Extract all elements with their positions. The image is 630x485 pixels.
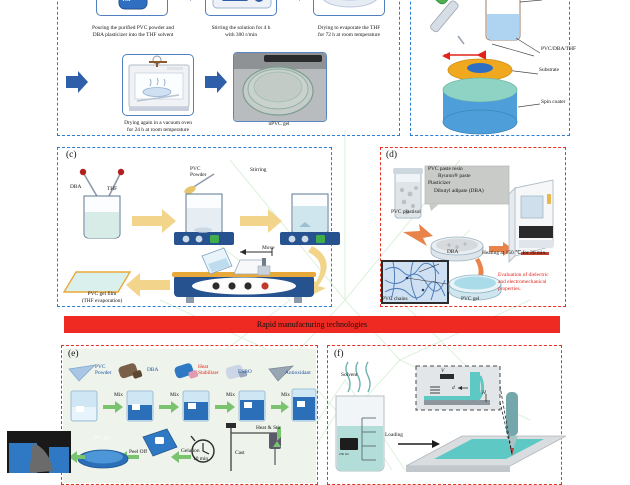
panel-a-step4-card bbox=[122, 54, 194, 116]
panel-e-mix-label-1: Mix bbox=[114, 392, 123, 398]
panel-e-label-heat-stir: Heat & Stir bbox=[256, 425, 281, 431]
petri-dish-solution-icon bbox=[314, 0, 386, 17]
panel-b-label-spin-coater: Spin coater bbox=[541, 99, 565, 105]
panel-f-label-volume: 250 ml bbox=[339, 452, 349, 456]
panel-a-arrow-1 bbox=[176, 0, 202, 4]
panel-f-label-inset-gap: d bbox=[452, 385, 455, 391]
panel-a-step1-caption: Pouring the purified PVC powder and DBA … bbox=[84, 25, 182, 39]
panel-c-diagram bbox=[62, 160, 328, 305]
panel-e-mix-label-3: Mix bbox=[226, 392, 235, 398]
mix-beaker-1 bbox=[71, 391, 97, 421]
panel-c-label-move: Move bbox=[262, 245, 275, 251]
panel-a-step2-caption-line2: with 300 r/min bbox=[196, 32, 286, 39]
panel-e-ingredient-3-label: ESBO bbox=[238, 369, 252, 375]
panel-a-product-photo bbox=[233, 52, 327, 122]
panel-d-label-evaluation-line3: properties. bbox=[498, 286, 549, 293]
panel-e-label-timer: 10 min bbox=[193, 456, 208, 462]
beaker-thf-icon bbox=[97, 0, 169, 17]
panel-d-tag: (d) bbox=[386, 150, 397, 160]
panel-b-label-substrate: Substrate bbox=[539, 67, 559, 73]
panel-e-ingredient-1-label: DBA bbox=[147, 367, 158, 373]
panel-c-label-product-line2: (THF evaporation) bbox=[62, 298, 142, 305]
panel-c-label-product: PVC gel film (THF evaporation) bbox=[62, 291, 142, 305]
panel-d-label-oven-caption: Heating at 150 ℃ for 30 min. bbox=[482, 250, 547, 256]
panel-e-label-peel-off: Peel Off bbox=[129, 449, 147, 455]
panel-a-arrow-2 bbox=[285, 0, 311, 4]
magnetic-stirrer-icon bbox=[206, 0, 278, 17]
panel-d-label-evaluation-line1: Evaluation of dielectric bbox=[498, 272, 549, 279]
panel-a-step1-card bbox=[96, 0, 168, 16]
panel-a bbox=[57, 0, 400, 136]
pipette-dba-icon bbox=[80, 169, 98, 198]
panel-d-label-evaluation: Evaluation of dielectric and electromech… bbox=[498, 272, 549, 294]
pvc-gel-photo-e bbox=[7, 431, 71, 473]
panel-d-label-plastisol: PVC plastisol bbox=[391, 209, 421, 215]
panel-e-label-product: Pvc gel bbox=[94, 435, 110, 441]
panel-d-label-dba-dish: DBA bbox=[447, 249, 458, 255]
panel-d-callout-line4: Dibutyl adipate (DBA) bbox=[428, 188, 484, 195]
panel-e-ingredient-2-line2: Stabilizer bbox=[198, 370, 219, 376]
panel-e-mix-label-2: Mix bbox=[170, 392, 179, 398]
panel-a-step4-caption-line1: Drying again in a vacuum oven bbox=[110, 120, 206, 127]
film-caster-icon bbox=[172, 248, 316, 303]
mix-beaker-2 bbox=[127, 391, 153, 421]
panel-e-label-gelation: Gelation bbox=[181, 448, 200, 454]
dropper-icon bbox=[429, 0, 464, 44]
panel-a-step5-caption: nPVC gel bbox=[239, 121, 319, 128]
mix-beaker-3 bbox=[183, 391, 209, 421]
mix-beaker-5 bbox=[292, 389, 316, 421]
panel-f-label-inset-velocity: V bbox=[441, 368, 444, 374]
cast-mold-icon bbox=[143, 429, 177, 456]
panel-e-ingredient-0-label: PVC Powder bbox=[95, 364, 111, 376]
panel-a-step2-caption: Stirring the solution for 4 h with 300 r… bbox=[196, 25, 286, 39]
panel-c-label-pvc-powder: PVC Powder bbox=[190, 166, 206, 178]
npvc-gel-photo bbox=[234, 53, 326, 121]
panel-a-step3-card bbox=[313, 0, 385, 16]
panel-a-step3-caption: Drying to evaporate the THF for 72 h at … bbox=[300, 25, 398, 39]
panel-a-step1-caption-line2: DBA plasticizer into the THF solvent bbox=[84, 32, 182, 39]
panel-e-mix-label-4: Mix bbox=[281, 392, 290, 398]
panel-a-step1-vessel-label: THF bbox=[122, 0, 131, 2]
figure-root: THF 300 r/min Solution Pouring the purif… bbox=[0, 0, 630, 472]
panel-e-ingredient-0-line2: Powder bbox=[95, 370, 111, 376]
panel-b-label-solution: PVC/DBA/THF bbox=[541, 46, 576, 52]
panel-a-step2-card bbox=[205, 0, 277, 16]
panel-e-ingredient-2-label: Heat Stabilizer bbox=[198, 364, 219, 376]
panel-d-label-pvc-chains: PVC chains bbox=[382, 296, 408, 302]
ingredient-dba-icon bbox=[118, 362, 143, 379]
panel-b-spin-coating-diagram bbox=[414, 0, 570, 132]
panel-d-callout: PVC paste resin Ryuron® paste Plasticize… bbox=[428, 166, 484, 195]
panel-c-label-thf: THF bbox=[107, 186, 117, 192]
panel-a-step3-caption-line1: Drying to evaporate the THF bbox=[300, 25, 398, 32]
beaker-c1-icon bbox=[84, 196, 120, 238]
panel-a-arrow-3 bbox=[64, 70, 90, 96]
pipette-thf-icon bbox=[108, 169, 124, 198]
panel-a-arrow-4 bbox=[203, 70, 229, 96]
panel-c-tag: (c) bbox=[66, 150, 77, 160]
panel-c-label-stirring: Stirring bbox=[250, 167, 266, 173]
substrate-plate-icon bbox=[406, 436, 566, 472]
panel-f-label-inset-height: H bbox=[482, 390, 486, 396]
gelation-pan-icon bbox=[78, 450, 128, 468]
panel-c-label-dba: DBA bbox=[70, 184, 81, 190]
panel-a-step2-caption-line1: Stirring the solution for 4 h bbox=[196, 25, 286, 32]
panel-d-callout-line2: Ryuron® paste bbox=[428, 173, 484, 180]
panel-a-step4-caption: Drying again in a vacuum oven for 24 h a… bbox=[110, 120, 206, 134]
vacuum-oven-icon bbox=[123, 55, 195, 117]
beaker-icon bbox=[484, 0, 522, 40]
spin-coater-icon bbox=[443, 78, 517, 134]
panel-f-label-solvent: Solvent bbox=[341, 372, 357, 378]
panel-c-label-pvc-powder-line2: Powder bbox=[190, 172, 206, 178]
panel-d-callout-line3: Plasticizer bbox=[428, 180, 484, 187]
panel-f-diagram bbox=[330, 356, 560, 474]
panel-e-ingredient-4-label: Antioxidant bbox=[285, 370, 311, 376]
inset-blade-coating-diagram bbox=[416, 366, 500, 410]
panel-c-label-product-line1: PVC gel film bbox=[62, 291, 142, 298]
hotplate-1-icon bbox=[174, 194, 234, 245]
panel-f-label-loading: Loading bbox=[385, 432, 403, 438]
solvent-beaker-icon bbox=[336, 396, 384, 471]
rapid-manufacturing-banner: Rapid manufacturing technologies bbox=[64, 316, 560, 333]
panel-d-label-evaluation-line2: and electromechanical bbox=[498, 279, 549, 286]
panel-a-step1-caption-line1: Pouring the purified PVC powder and bbox=[84, 25, 182, 32]
ingredient-pvc-powder-icon bbox=[69, 365, 95, 381]
rapid-manufacturing-banner-label: Rapid manufacturing technologies bbox=[257, 320, 367, 329]
panel-e-label-cast: Cast bbox=[235, 450, 245, 456]
panel-d-label-pvc-gel: PVC gel bbox=[461, 296, 479, 302]
mix-beaker-4 bbox=[239, 391, 265, 421]
ingredient-heat-stabilizer-icon bbox=[174, 362, 199, 379]
panel-a-step3-caption-line2: for 72 h at room temperature bbox=[300, 32, 398, 39]
panel-a-step4-caption-line2: for 24 h at room temperature bbox=[110, 127, 206, 134]
